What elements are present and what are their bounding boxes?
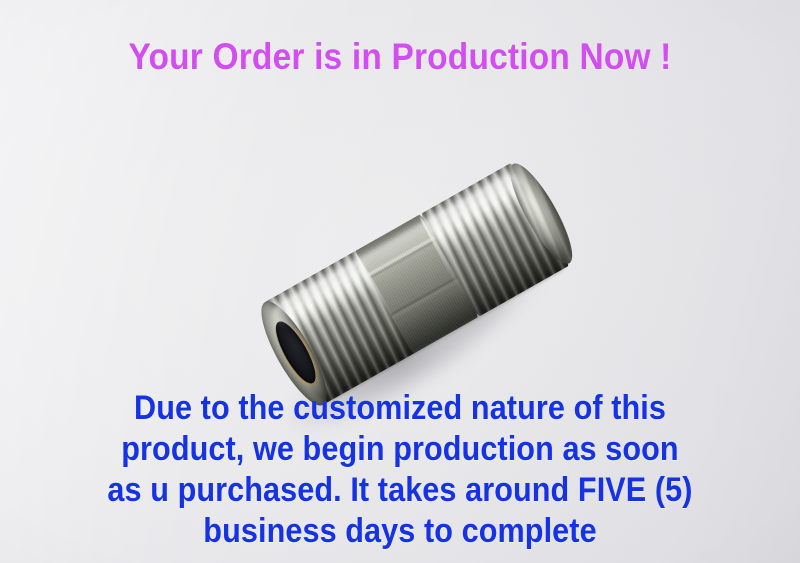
- body-copy-line: product, we begin production as soon: [40, 429, 760, 470]
- body-copy: Due to the customized nature of this pro…: [0, 388, 800, 552]
- promo-graphic: Your Order is in Production Now ! Due to…: [0, 0, 800, 563]
- body-copy-line: business days to complete: [40, 511, 760, 552]
- product-photo: [262, 176, 568, 394]
- body-copy-line: Due to the customized nature of this: [40, 388, 760, 429]
- body-copy-line: as u purchased. It takes around FIVE (5): [40, 470, 760, 511]
- hex-nipple-fitting: [262, 176, 568, 394]
- headline-text: Your Order is in Production Now !: [38, 34, 762, 80]
- fitting-body: [255, 160, 574, 410]
